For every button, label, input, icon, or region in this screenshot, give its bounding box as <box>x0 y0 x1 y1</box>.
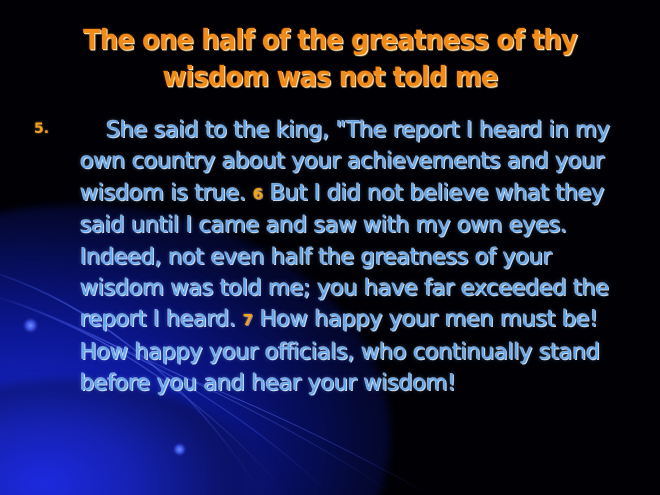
body-paragraph: She said to the king, "The report I hear… <box>80 115 640 400</box>
verse-number-6: 6 <box>253 185 263 203</box>
slide-body: 5. She said to the king, "The report I h… <box>0 115 660 435</box>
title-line-2: wisdom was not told me <box>26 58 633 95</box>
list-marker: 5. <box>34 121 49 137</box>
presentation-slide: The one half of the greatness of thy wis… <box>0 0 660 495</box>
background-glow-dot <box>173 443 186 456</box>
slide-title: The one half of the greatness of thy wis… <box>0 21 660 95</box>
verse-number-7: 7 <box>243 311 253 329</box>
title-line-1: The one half of the greatness of thy <box>26 21 633 58</box>
